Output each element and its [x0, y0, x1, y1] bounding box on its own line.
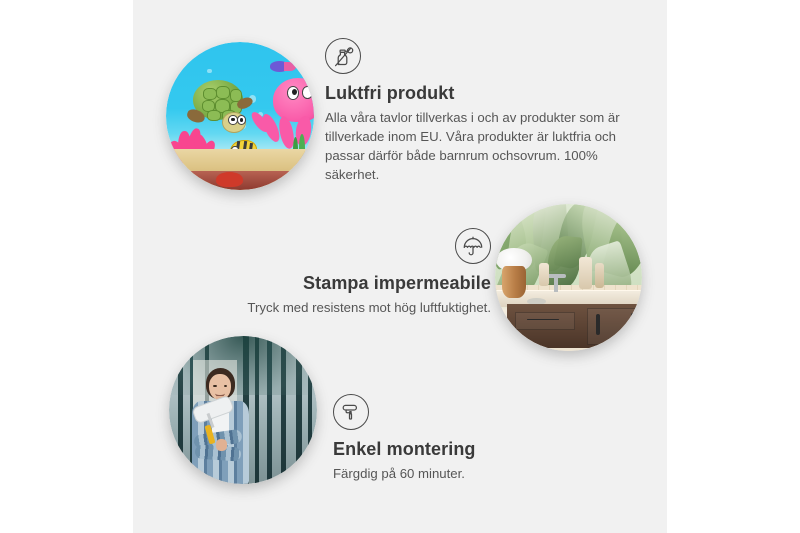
photo-underwater-kids-mural — [166, 42, 314, 190]
photo-bathroom-leaf-wallpaper — [495, 204, 642, 351]
content-panel: Luktfri produkt Alla våra tavlor tillver… — [133, 0, 667, 533]
photo-bathroom-inner — [495, 204, 642, 351]
photo-woman-paint-roller-forest — [169, 336, 317, 484]
feature-odor-free-body: Alla våra tavlor tillverkas i och av pro… — [325, 108, 623, 184]
feature-easy-mounting-body: Färgdig på 60 minuter. — [333, 464, 613, 483]
bathroom-illustration — [495, 204, 642, 351]
feature-odor-free-heading: Luktfri produkt — [325, 83, 623, 104]
underwater-illustration — [166, 42, 314, 190]
feature-waterproof-heading: Stampa impermeabile — [211, 273, 491, 294]
feature-waterproof-body: Tryck med resistens mot hög luftfuktighe… — [211, 298, 491, 317]
forest-mural-illustration — [169, 336, 317, 484]
feature-easy-mounting-heading: Enkel montering — [333, 439, 613, 460]
woman-figure — [187, 366, 273, 484]
photo-woman-inner — [169, 336, 317, 484]
no-perfume-spray-icon — [325, 38, 361, 74]
photo-underwater-inner — [166, 42, 314, 190]
feature-odor-free: Luktfri produkt Alla våra tavlor tillver… — [325, 38, 623, 184]
paint-roller-icon — [333, 394, 369, 430]
feature-easy-mounting: Enkel montering Färgdig på 60 minuter. — [333, 394, 613, 483]
promo-page: Luktfri produkt Alla våra tavlor tillver… — [0, 0, 800, 533]
feature-waterproof-print: Stampa impermeabile Tryck med resistens … — [211, 228, 491, 317]
umbrella-icon — [455, 228, 491, 264]
